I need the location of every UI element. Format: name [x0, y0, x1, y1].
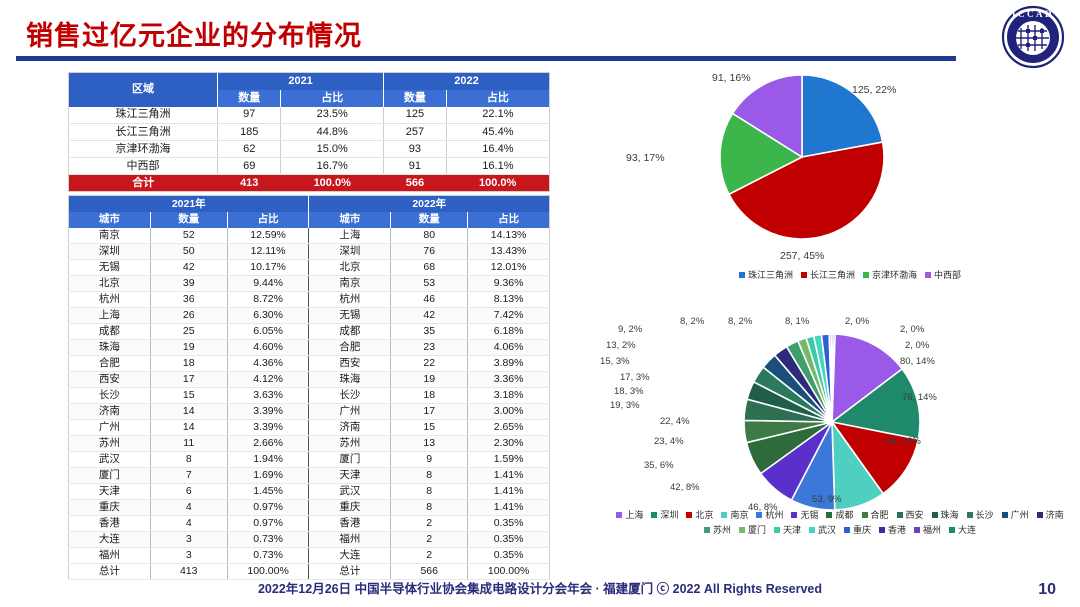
city-count-2021: 7 [150, 468, 227, 484]
legend-label: 福州 [923, 523, 941, 536]
legend-swatch-icon [949, 527, 955, 533]
table-row: 上海266.30%无锡427.42% [69, 308, 550, 324]
legend-item: 成都 [826, 508, 853, 521]
legend-label: 大连 [958, 523, 976, 536]
city-count-2021: 6 [150, 484, 227, 500]
city-share-2022: 1.41% [468, 468, 550, 484]
legend-label: 广州 [1011, 508, 1029, 521]
city-name-2021: 天津 [69, 484, 151, 500]
city-count-2022: 76 [391, 244, 468, 260]
pie-data-label: 42, 8% [670, 482, 700, 493]
table-row: 重庆40.97%重庆81.41% [69, 500, 550, 516]
table-row: 福州30.73%大连20.35% [69, 548, 550, 564]
city-count-2021: 42 [150, 260, 227, 276]
region-name: 京津环渤海 [69, 141, 218, 158]
total-label: 合计 [69, 175, 218, 192]
legend-label: 长江三角洲 [810, 268, 855, 281]
city-share-2022: 3.00% [468, 404, 550, 420]
city-count-2021: 3 [150, 548, 227, 564]
city-count-2022: 22 [391, 356, 468, 372]
legend-swatch-icon [1002, 512, 1008, 518]
city-name-2022: 福州 [309, 532, 391, 548]
city-name-2021: 杭州 [69, 292, 151, 308]
region-table-container: 区域 2021 2022 数量 占比 数量 占比 珠江三角洲9723.5%125… [68, 72, 550, 192]
table-row: 杭州368.72%杭州468.13% [69, 292, 550, 308]
city-share-2021: 0.97% [227, 500, 309, 516]
city-share-2021: 6.05% [227, 324, 309, 340]
city-count-2022: 8 [391, 468, 468, 484]
city-name-2022: 广州 [309, 404, 391, 420]
city-share-2022: 3.89% [468, 356, 550, 372]
legend-label: 深圳 [660, 508, 678, 521]
group-2021-header: 2021 [218, 73, 384, 90]
table-row: 无锡4210.17%北京6812.01% [69, 260, 550, 276]
city-name-2021: 珠海 [69, 340, 151, 356]
legend-swatch-icon [897, 512, 903, 518]
legend-item: 重庆 [844, 523, 871, 536]
city-count-2021: 39 [150, 276, 227, 292]
footer-text: 2022年12月26日 中国半导体行业协会集成电路设计分会年会 · 福建厦门 ⓒ… [0, 578, 1080, 597]
city-share-2021: 3.63% [227, 388, 309, 404]
legend-item: 合肥 [862, 508, 889, 521]
region-pie-svg [620, 62, 1080, 262]
legend-item: 京津环渤海 [863, 268, 917, 281]
pie-data-label: 76, 14% [902, 392, 937, 403]
legend-label: 香港 [888, 523, 906, 536]
city-share-2021: 0.97% [227, 516, 309, 532]
city-count-2021: 3 [150, 532, 227, 548]
city-count-2022: 2 [391, 548, 468, 564]
region-share-2021: 44.8% [281, 124, 384, 141]
city-count-2022: 13 [391, 436, 468, 452]
legend-swatch-icon [651, 512, 657, 518]
city-name-2022: 深圳 [309, 244, 391, 260]
city-share-2022: 0.35% [468, 532, 550, 548]
city-name-2022: 上海 [309, 228, 391, 244]
city-count-2021: 17 [150, 372, 227, 388]
city-share-2022: 12.01% [468, 260, 550, 276]
pie-data-label: 2, 0% [900, 324, 924, 335]
pie-data-label: 13, 2% [606, 340, 636, 351]
legend-swatch-icon [1037, 512, 1043, 518]
city-name-2021: 合肥 [69, 356, 151, 372]
city-name-2021: 成都 [69, 324, 151, 340]
legend-label: 京津环渤海 [872, 268, 917, 281]
city-name-2022: 合肥 [309, 340, 391, 356]
city-name-2022: 北京 [309, 260, 391, 276]
table-row: 苏州112.66%苏州132.30% [69, 436, 550, 452]
pie-data-label: 22, 4% [660, 416, 690, 427]
legend-item: 武汉 [809, 523, 836, 536]
city-share-2021: 1.45% [227, 484, 309, 500]
legend-item: 南京 [721, 508, 748, 521]
city-name-2021: 福州 [69, 548, 151, 564]
region-count-2022: 91 [384, 158, 447, 175]
region-count-2021: 69 [218, 158, 281, 175]
legend-label: 苏州 [713, 523, 731, 536]
city-share-2021: 6.30% [227, 308, 309, 324]
region-share-2022: 45.4% [446, 124, 549, 141]
city-name-2021: 香港 [69, 516, 151, 532]
legend-swatch-icon [616, 512, 622, 518]
city-share-2022: 4.06% [468, 340, 550, 356]
city-share-2022: 14.13% [468, 228, 550, 244]
city-count-2022: 2 [391, 516, 468, 532]
legend-swatch-icon [879, 527, 885, 533]
share-2022-header: 占比 [446, 90, 549, 107]
legend-swatch-icon [862, 512, 868, 518]
region-count-2022: 125 [384, 107, 447, 124]
city-share-2021: 10.17% [227, 260, 309, 276]
city-count-2022: 35 [391, 324, 468, 340]
city-name-2021: 西安 [69, 372, 151, 388]
region-share-2022: 22.1% [446, 107, 549, 124]
city-share-2021: 0.73% [227, 532, 309, 548]
legend-swatch-icon [925, 272, 931, 278]
city-count-2021: 19 [150, 340, 227, 356]
city-name-2021: 厦门 [69, 468, 151, 484]
legend-item: 广州 [1002, 508, 1029, 521]
legend-item: 香港 [879, 523, 906, 536]
city-share-2021: 8.72% [227, 292, 309, 308]
pie-data-label: 91, 16% [712, 72, 751, 84]
table-row: 京津环渤海6215.0%9316.4% [69, 141, 550, 158]
city-share-2022: 9.36% [468, 276, 550, 292]
city-count-2022: 17 [391, 404, 468, 420]
city-share-2022: 8.13% [468, 292, 550, 308]
city-count-2021: 8 [150, 452, 227, 468]
city-name-2022: 长沙 [309, 388, 391, 404]
total-share-2021: 100.0% [281, 175, 384, 192]
city-name-2022: 天津 [309, 468, 391, 484]
region-distribution-table: 区域 2021 2022 数量 占比 数量 占比 珠江三角洲9723.5%125… [68, 72, 550, 192]
city-name-2021: 广州 [69, 420, 151, 436]
legend-swatch-icon [967, 512, 973, 518]
share-col-2022-header: 占比 [468, 212, 550, 228]
city-count-2021: 26 [150, 308, 227, 324]
legend-label: 南京 [730, 508, 748, 521]
legend-swatch-icon [863, 272, 869, 278]
city-share-2021: 2.66% [227, 436, 309, 452]
legend-item: 西安 [897, 508, 924, 521]
pie-data-label: 2, 0% [845, 316, 869, 327]
pie-data-label: 18, 3% [614, 386, 644, 397]
pie-data-label: 17, 3% [620, 372, 650, 383]
legend-item: 无锡 [791, 508, 818, 521]
city-share-2021: 4.36% [227, 356, 309, 372]
region-table-body: 珠江三角洲9723.5%12522.1%长江三角洲18544.8%25745.4… [69, 107, 550, 192]
legend-label: 北京 [695, 508, 713, 521]
page-title: 销售过亿元企业的分布情况 [26, 14, 362, 53]
city-count-2021: 4 [150, 516, 227, 532]
table-row: 济南143.39%广州173.00% [69, 404, 550, 420]
legend-label: 成都 [835, 508, 853, 521]
pie-data-label: 125, 22% [852, 84, 896, 96]
legend-item: 珠海 [932, 508, 959, 521]
legend-item: 天津 [774, 523, 801, 536]
legend-swatch-icon [932, 512, 938, 518]
legend-label: 济南 [1046, 508, 1064, 521]
legend-label: 西安 [906, 508, 924, 521]
region-count-2021: 185 [218, 124, 281, 141]
city-share-2022: 1.41% [468, 500, 550, 516]
city-count-2022: 19 [391, 372, 468, 388]
city-count-2021: 14 [150, 404, 227, 420]
table-row: 珠海194.60%合肥234.06% [69, 340, 550, 356]
city-share-2022: 2.65% [468, 420, 550, 436]
city-share-2021: 4.60% [227, 340, 309, 356]
city-pie-legend: 上海深圳北京南京杭州无锡成都合肥西安珠海长沙广州济南苏州厦门天津武汉重庆香港福州… [600, 508, 1080, 536]
pie-data-label: 8, 2% [680, 316, 704, 327]
city-count-2021: 18 [150, 356, 227, 372]
pie-data-label: 53, 9% [812, 494, 842, 505]
legend-item: 长沙 [967, 508, 994, 521]
city-name-2021: 大连 [69, 532, 151, 548]
table-row: 长沙153.63%长沙183.18% [69, 388, 550, 404]
city-name-2022: 珠海 [309, 372, 391, 388]
legend-item: 济南 [1037, 508, 1064, 521]
legend-label: 重庆 [853, 523, 871, 536]
region-name: 中西部 [69, 158, 218, 175]
legend-label: 中西部 [934, 268, 961, 281]
legend-item: 珠江三角洲 [739, 268, 793, 281]
table-row: 西安174.12%珠海193.36% [69, 372, 550, 388]
city-count-2022: 15 [391, 420, 468, 436]
share-col-2021-header: 占比 [227, 212, 309, 228]
city-share-2021: 3.39% [227, 404, 309, 420]
iccad-logo: ICCAD [994, 4, 1072, 70]
city-share-2021: 1.94% [227, 452, 309, 468]
city-group-2021-header: 2021年 [69, 196, 309, 212]
pie-data-label: 68, 12% [886, 436, 921, 447]
city-count-2021: 14 [150, 420, 227, 436]
city-table-container: 2021年 2022年 城市 数量 占比 城市 数量 占比 南京5212.59%… [68, 195, 550, 580]
city-share-2021: 12.59% [227, 228, 309, 244]
pie-data-label: 80, 14% [900, 356, 935, 367]
table-row: 珠江三角洲9723.5%12522.1% [69, 107, 550, 124]
legend-item: 上海 [616, 508, 643, 521]
city-count-2022: 8 [391, 484, 468, 500]
legend-label: 长沙 [976, 508, 994, 521]
city-share-2022: 7.42% [468, 308, 550, 324]
legend-item: 中西部 [925, 268, 961, 281]
group-2022-header: 2022 [384, 73, 550, 90]
city-pie-chart: 上海深圳北京南京杭州无锡成都合肥西安珠海长沙广州济南苏州厦门天津武汉重庆香港福州… [600, 312, 1080, 562]
city-count-2022: 46 [391, 292, 468, 308]
page-number: 10 [1038, 581, 1056, 599]
city-share-2022: 13.43% [468, 244, 550, 260]
legend-swatch-icon [704, 527, 710, 533]
legend-label: 珠江三角洲 [748, 268, 793, 281]
city-name-2021: 南京 [69, 228, 151, 244]
city-name-2021: 北京 [69, 276, 151, 292]
city-share-2022: 1.59% [468, 452, 550, 468]
table-row: 天津61.45%武汉81.41% [69, 484, 550, 500]
city-name-2022: 成都 [309, 324, 391, 340]
city-group-2022-header: 2022年 [309, 196, 550, 212]
total-count-2022: 566 [384, 175, 447, 192]
total-count-2021: 413 [218, 175, 281, 192]
city-share-2022: 3.18% [468, 388, 550, 404]
iccad-logo-icon: ICCAD [994, 4, 1072, 70]
pie-data-label: 15, 3% [600, 356, 630, 367]
table-row: 厦门71.69%天津81.41% [69, 468, 550, 484]
city-count-2021: 15 [150, 388, 227, 404]
legend-label: 厦门 [748, 523, 766, 536]
city-count-2022: 68 [391, 260, 468, 276]
legend-swatch-icon [826, 512, 832, 518]
city-share-2021: 1.69% [227, 468, 309, 484]
city-name-2021: 上海 [69, 308, 151, 324]
legend-swatch-icon [809, 527, 815, 533]
legend-label: 武汉 [818, 523, 836, 536]
city-share-2022: 6.18% [468, 324, 550, 340]
city-count-2022: 42 [391, 308, 468, 324]
city-name-2022: 重庆 [309, 500, 391, 516]
region-count-2021: 97 [218, 107, 281, 124]
city-table-body: 南京5212.59%上海8014.13%深圳5012.11%深圳7613.43%… [69, 228, 550, 580]
table-row: 中西部6916.7%9116.1% [69, 158, 550, 175]
region-count-2022: 257 [384, 124, 447, 141]
count-2022-header: 数量 [384, 90, 447, 107]
pie-data-label: 8, 2% [728, 316, 752, 327]
legend-item: 福州 [914, 523, 941, 536]
table-row: 武汉81.94%厦门91.59% [69, 452, 550, 468]
city-count-2021: 50 [150, 244, 227, 260]
legend-item: 大连 [949, 523, 976, 536]
pie-data-label: 23, 4% [654, 436, 684, 447]
legend-swatch-icon [721, 512, 727, 518]
legend-swatch-icon [774, 527, 780, 533]
share-2021-header: 占比 [281, 90, 384, 107]
region-name: 珠江三角洲 [69, 107, 218, 124]
city-name-2021: 济南 [69, 404, 151, 420]
region-share-2021: 23.5% [281, 107, 384, 124]
table-row: 广州143.39%济南152.65% [69, 420, 550, 436]
region-share-2021: 15.0% [281, 141, 384, 158]
legend-swatch-icon [686, 512, 692, 518]
city-count-2022: 9 [391, 452, 468, 468]
pie-data-label: 35, 6% [644, 460, 674, 471]
city-name-2022: 南京 [309, 276, 391, 292]
count-col-2021-header: 数量 [150, 212, 227, 228]
city-count-2021: 36 [150, 292, 227, 308]
city-name-2022: 济南 [309, 420, 391, 436]
region-pie-legend: 珠江三角洲长江三角洲京津环渤海中西部 [620, 268, 1080, 281]
city-distribution-table: 2021年 2022年 城市 数量 占比 城市 数量 占比 南京5212.59%… [68, 195, 550, 580]
city-name-2022: 苏州 [309, 436, 391, 452]
city-share-2021: 12.11% [227, 244, 309, 260]
legend-label: 珠海 [941, 508, 959, 521]
pie-data-label: 8, 1% [785, 316, 809, 327]
region-count-2021: 62 [218, 141, 281, 158]
pie-data-label: 19, 3% [610, 400, 640, 411]
table-row: 成都256.05%成都356.18% [69, 324, 550, 340]
region-count-2022: 93 [384, 141, 447, 158]
legend-label: 无锡 [800, 508, 818, 521]
city-count-2022: 23 [391, 340, 468, 356]
city-name-2021: 长沙 [69, 388, 151, 404]
city-name-2021: 武汉 [69, 452, 151, 468]
table-total-row: 合计413100.0%566100.0% [69, 175, 550, 192]
city-name-2022: 大连 [309, 548, 391, 564]
city-name-2022: 厦门 [309, 452, 391, 468]
legend-swatch-icon [801, 272, 807, 278]
legend-item: 深圳 [651, 508, 678, 521]
table-row: 北京399.44%南京539.36% [69, 276, 550, 292]
city-count-2022: 18 [391, 388, 468, 404]
count-col-2022-header: 数量 [391, 212, 468, 228]
city-share-2021: 9.44% [227, 276, 309, 292]
region-col-header: 区域 [69, 73, 218, 107]
city-count-2021: 52 [150, 228, 227, 244]
city-share-2022: 0.35% [468, 548, 550, 564]
city-count-2022: 8 [391, 500, 468, 516]
city-share-2022: 1.41% [468, 484, 550, 500]
legend-label: 上海 [625, 508, 643, 521]
total-share-2022: 100.0% [446, 175, 549, 192]
table-row: 香港40.97%香港20.35% [69, 516, 550, 532]
city-count-2022: 53 [391, 276, 468, 292]
pie-data-label: 9, 2% [618, 324, 642, 335]
title-divider [16, 56, 956, 61]
legend-swatch-icon [844, 527, 850, 533]
pie-data-label: 93, 17% [626, 152, 665, 164]
city-share-2022: 0.35% [468, 516, 550, 532]
region-name: 长江三角洲 [69, 124, 218, 141]
pie-data-label: 257, 45% [780, 250, 824, 262]
city-col-2021-header: 城市 [69, 212, 151, 228]
city-count-2022: 2 [391, 532, 468, 548]
table-row: 合肥184.36%西安223.89% [69, 356, 550, 372]
count-2021-header: 数量 [218, 90, 281, 107]
legend-item: 北京 [686, 508, 713, 521]
city-name-2021: 无锡 [69, 260, 151, 276]
legend-swatch-icon [739, 272, 745, 278]
city-name-2021: 重庆 [69, 500, 151, 516]
table-row: 深圳5012.11%深圳7613.43% [69, 244, 550, 260]
legend-swatch-icon [791, 512, 797, 518]
legend-item: 苏州 [704, 523, 731, 536]
table-row: 长江三角洲18544.8%25745.4% [69, 124, 550, 141]
pie-data-label: 2, 0% [905, 340, 929, 351]
legend-label: 天津 [783, 523, 801, 536]
city-share-2022: 3.36% [468, 372, 550, 388]
city-share-2021: 0.73% [227, 548, 309, 564]
table-row: 大连30.73%福州20.35% [69, 532, 550, 548]
legend-item: 长江三角洲 [801, 268, 855, 281]
pie-data-label: 46, 8% [748, 502, 778, 513]
region-share-2022: 16.1% [446, 158, 549, 175]
legend-swatch-icon [739, 527, 745, 533]
region-pie-chart: 珠江三角洲长江三角洲京津环渤海中西部 91, 16%125, 22%93, 17… [620, 62, 1080, 302]
city-name-2021: 深圳 [69, 244, 151, 260]
city-share-2021: 3.39% [227, 420, 309, 436]
city-count-2021: 4 [150, 500, 227, 516]
legend-swatch-icon [914, 527, 920, 533]
region-share-2022: 16.4% [446, 141, 549, 158]
legend-item: 厦门 [739, 523, 766, 536]
city-share-2022: 2.30% [468, 436, 550, 452]
legend-label: 合肥 [871, 508, 889, 521]
city-name-2022: 香港 [309, 516, 391, 532]
city-name-2022: 杭州 [309, 292, 391, 308]
city-count-2021: 11 [150, 436, 227, 452]
city-col-2022-header: 城市 [309, 212, 391, 228]
city-count-2021: 25 [150, 324, 227, 340]
city-name-2022: 无锡 [309, 308, 391, 324]
city-name-2022: 西安 [309, 356, 391, 372]
